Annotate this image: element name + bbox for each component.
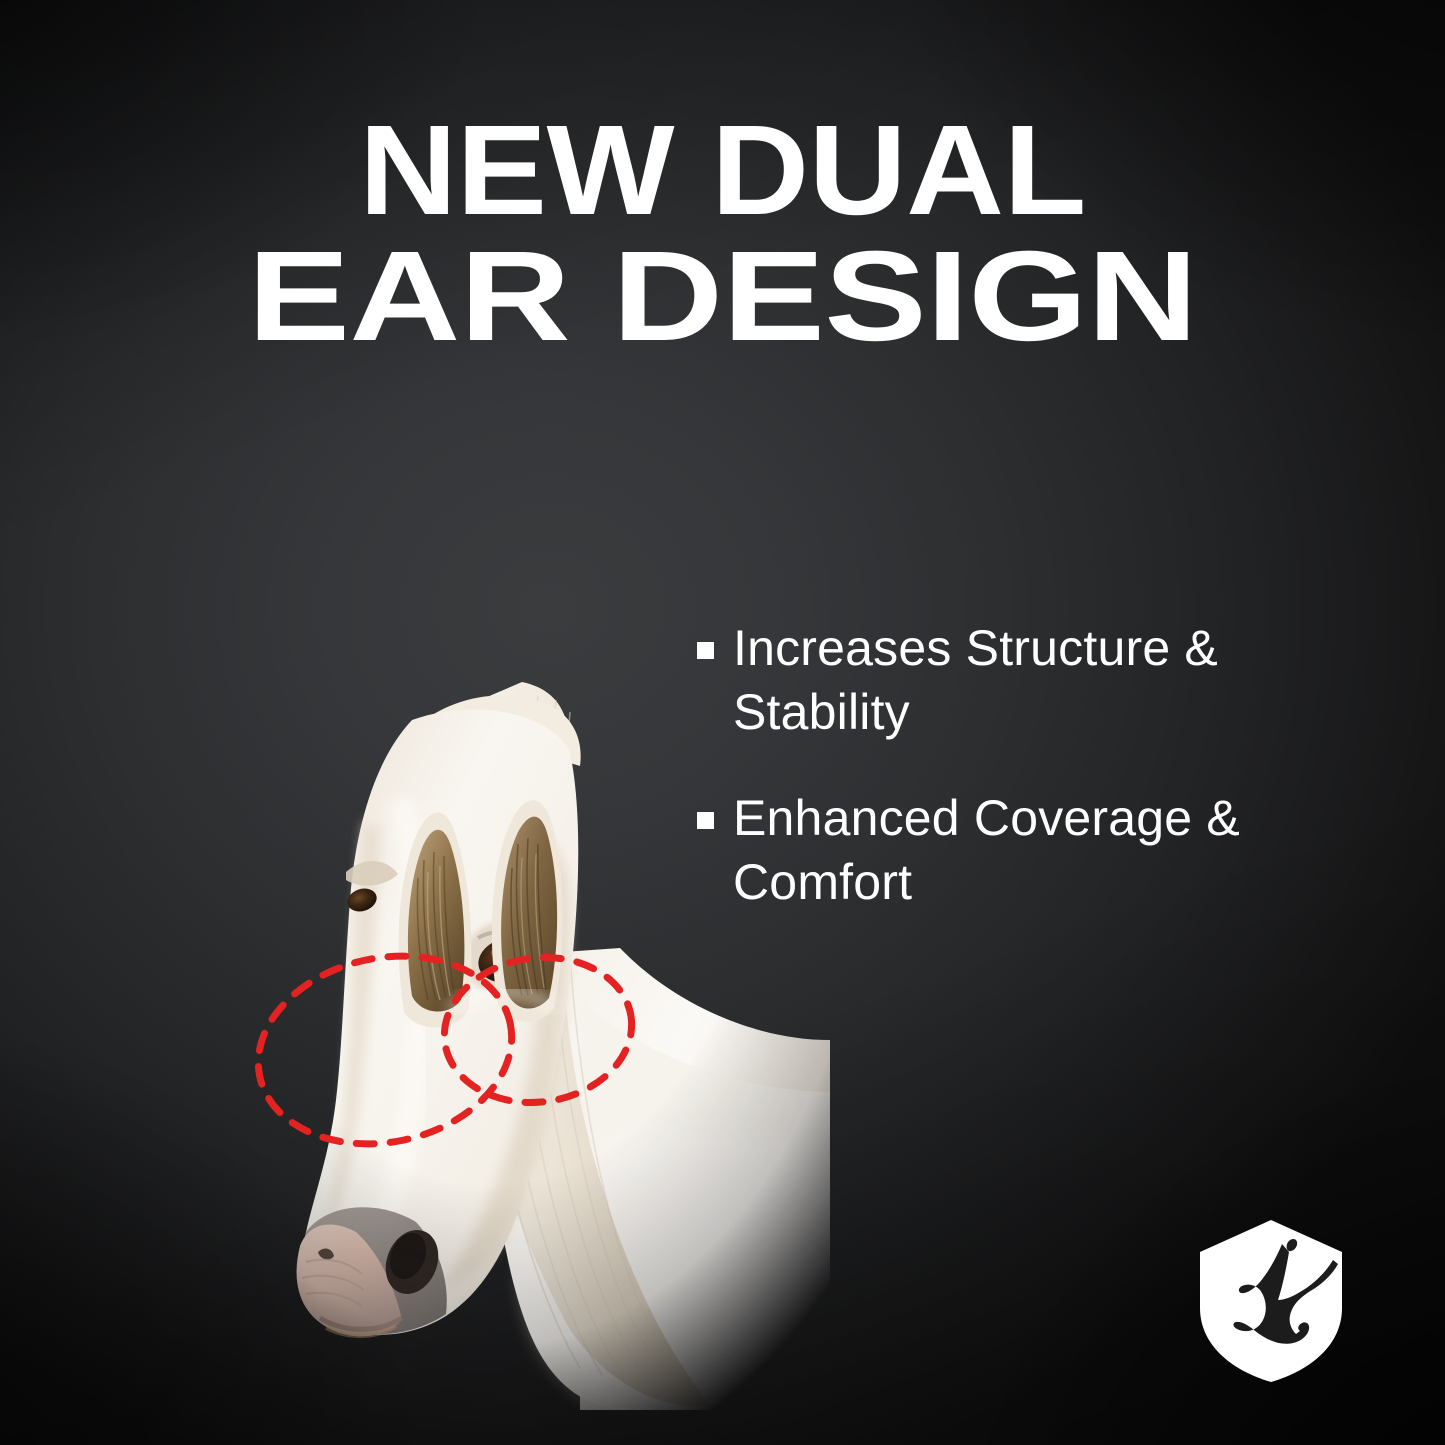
bullet-label: Increases Structure & Stability [733,616,1357,744]
square-bullet-icon [697,642,714,659]
feature-bullet-list: Increases Structure & Stability Enhanced… [697,616,1357,956]
list-item: Increases Structure & Stability [697,616,1357,744]
bullet-label: Enhanced Coverage & Comfort [733,786,1357,914]
shield-logo-icon [1196,1216,1346,1386]
square-bullet-icon [697,812,714,829]
promo-banner: NEW DUAL EAR DESIGN Increases Structure … [0,0,1445,1445]
list-item: Enhanced Coverage & Comfort [697,786,1357,914]
brand-logo [1196,1216,1346,1386]
